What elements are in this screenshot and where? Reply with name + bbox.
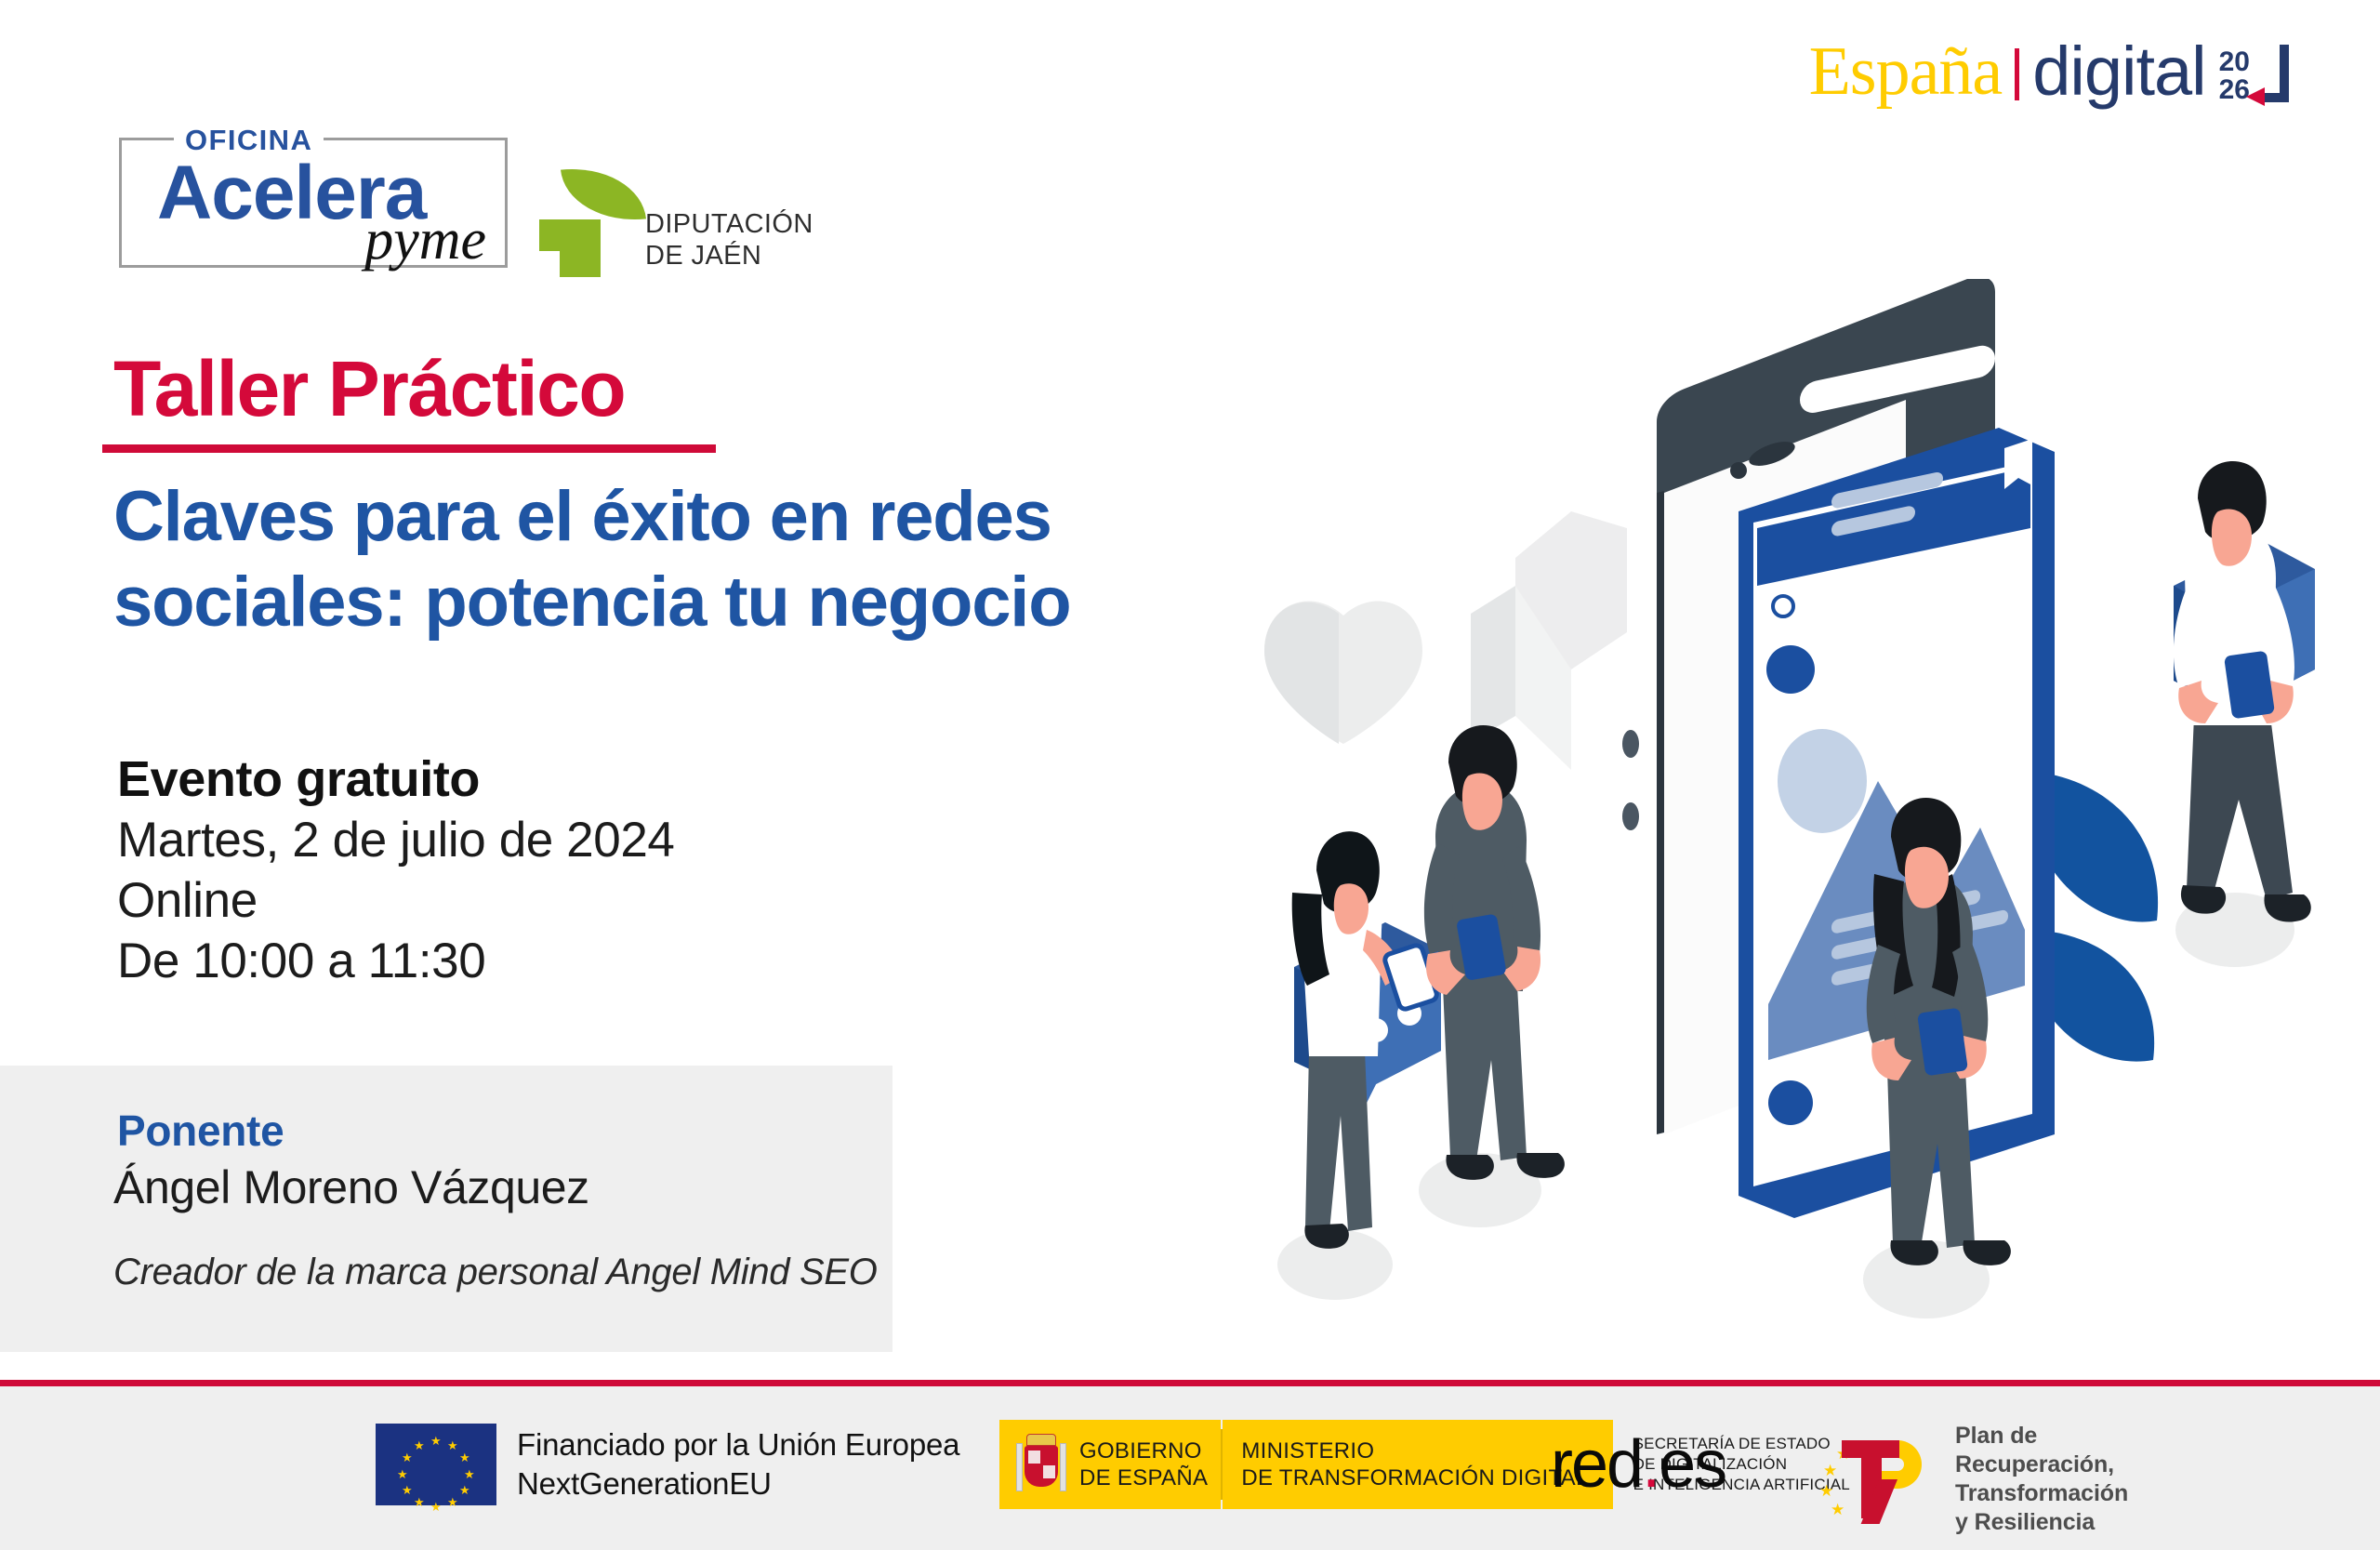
j-stem-icon — [560, 219, 601, 277]
event-poster: OFICINA Acelera pyme DIPUTACIÓN DE JAÉN … — [0, 0, 2380, 1550]
leaf-icon — [561, 162, 646, 228]
eu-flag-icon: ★ ★ ★ ★ ★ ★ ★ ★ ★ ★ ★ ★ — [376, 1424, 496, 1505]
redes-part-1: red — [1551, 1427, 1642, 1502]
speaker-name: Ángel Moreno Vázquez — [113, 1159, 589, 1216]
speaker-role: Creador de la marca personal Angel Mind … — [113, 1248, 878, 1296]
eu-funding-text: Financiado por la Unión Europea NextGene… — [517, 1425, 959, 1504]
eu-funding-line-2: NextGenerationEU — [517, 1464, 959, 1504]
enter-arrow-icon — [2244, 39, 2294, 106]
redes-logo: red.es — [1551, 1431, 1725, 1498]
ghost-heart-icon — [1264, 602, 1422, 744]
event-time: De 10:00 a 11:30 — [117, 931, 675, 991]
gobierno-text: GOBIERNO DE ESPAÑA — [1079, 1437, 1208, 1491]
diputacion-line-2: DE JAÉN — [645, 240, 813, 272]
gobierno-line-2: DE ESPAÑA — [1079, 1464, 1208, 1491]
gobierno-line-1: GOBIERNO — [1079, 1437, 1208, 1464]
prtr-logo: ★ ★ ★ ★ Plan de Recuperación, Transforma… — [1818, 1422, 2128, 1537]
prtr-line-3: Transformación — [1955, 1479, 2128, 1508]
ministerio-line-1: MINISTERIO — [1241, 1437, 1588, 1464]
prtr-line-1: Plan de — [1955, 1422, 2128, 1451]
headline-line-1: Claves para el éxito en redes — [113, 474, 1294, 560]
event-date: Martes, 2 de julio de 2024 — [117, 810, 675, 870]
ministerio-line-2: DE TRANSFORMACIÓN DIGITAL — [1241, 1464, 1588, 1491]
espana-digital-logo: España digital 20 26 — [1809, 35, 2294, 108]
character-woman-left — [1277, 831, 1438, 1300]
prtr-text: Plan de Recuperación, Transformación y R… — [1955, 1422, 2128, 1537]
social-media-illustration — [1236, 279, 2371, 1320]
diputacion-jaen-text: DIPUTACIÓN DE JAÉN — [645, 208, 813, 272]
diputacion-jaen-logo: DIPUTACIÓN DE JAÉN — [556, 166, 798, 277]
espana-wordmark: España — [1809, 35, 2003, 108]
diputacion-line-1: DIPUTACIÓN — [645, 208, 813, 240]
acelera-pyme-wordmark: pyme — [364, 211, 486, 269]
page-title: Claves para el éxito en redes sociales: … — [113, 474, 1294, 645]
gobierno-de-espana-block: GOBIERNO DE ESPAÑA — [999, 1420, 1221, 1509]
acelera-pyme-logo: OFICINA Acelera pyme — [119, 138, 508, 268]
speaker-label: Ponente — [117, 1106, 284, 1155]
prtr-line-4: y Resiliencia — [1955, 1508, 2128, 1537]
event-free-label: Evento gratuito — [117, 749, 675, 810]
redes-part-2: es — [1659, 1427, 1725, 1502]
espana-digital-divider — [2015, 48, 2019, 100]
character-man-right — [2174, 461, 2311, 967]
kicker-underline — [102, 444, 716, 453]
eu-funding-line-1: Financiado por la Unión Europea — [517, 1425, 959, 1464]
footer-divider — [0, 1380, 2380, 1386]
headline-line-2: sociales: potencia tu negocio — [113, 560, 1294, 645]
redes-dot: . — [1642, 1427, 1659, 1502]
digital-wordmark: digital — [2032, 35, 2205, 108]
prtr-line-2: Recuperación, — [1955, 1451, 2128, 1479]
prtr-mark-icon: ★ ★ ★ ★ — [1818, 1435, 1937, 1524]
spain-coat-of-arms-icon — [1016, 1432, 1066, 1497]
footer-logos-bar: ★ ★ ★ ★ ★ ★ ★ ★ ★ ★ ★ ★ Financiado por l… — [0, 1386, 2380, 1550]
gobierno-ministerio-logo: GOBIERNO DE ESPAÑA MINISTERIO DE TRANSFO… — [999, 1420, 1859, 1509]
event-location: Online — [117, 870, 675, 931]
eu-funding-logo: ★ ★ ★ ★ ★ ★ ★ ★ ★ ★ ★ ★ Financiado por l… — [376, 1424, 959, 1505]
kicker-taller-practico: Taller Práctico — [113, 346, 625, 431]
speaker-panel: Ponente Ángel Moreno Vázquez Creador de … — [0, 1066, 892, 1352]
event-details: Evento gratuito Martes, 2 de julio de 20… — [117, 749, 675, 991]
